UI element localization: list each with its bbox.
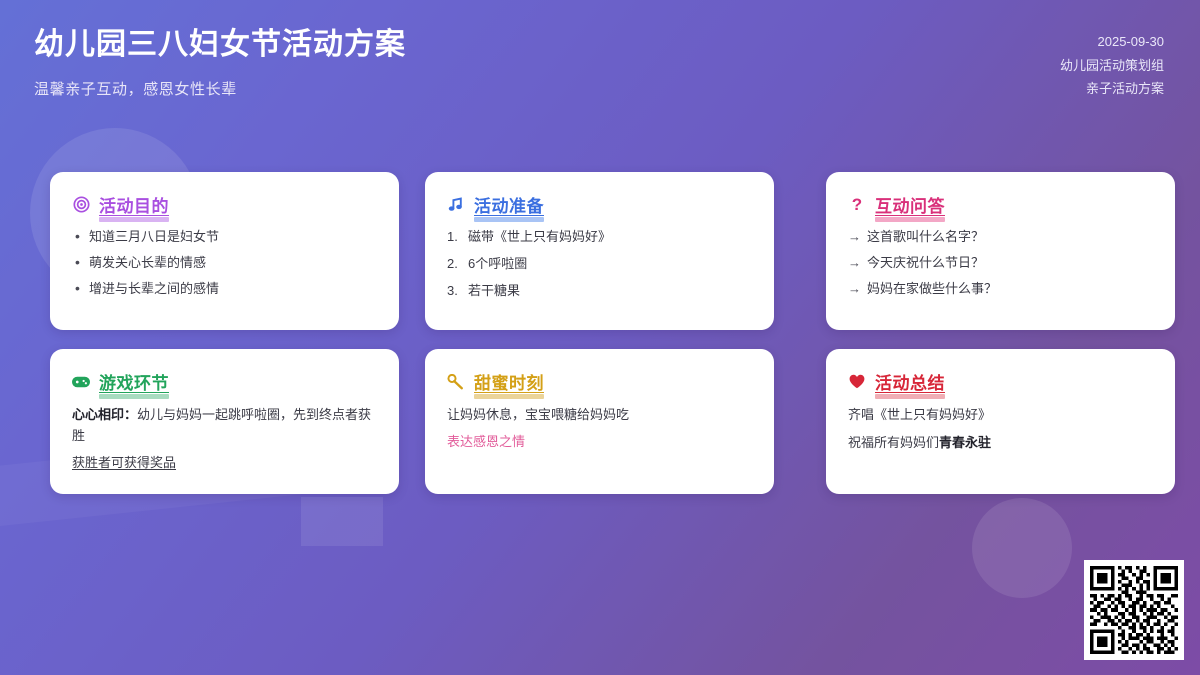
card-interactive-qa[interactable]: ?互动问答这首歌叫什么名字？今天庆祝什么节日？妈妈在家做些什么事？	[826, 172, 1175, 330]
card-grid: 活动目的知道三月八日是妇女节萌发关心长辈的情感增进与长辈之间的感情活动准备磁带《…	[50, 172, 1150, 494]
card-note-wrap: 获胜者可获得奖品	[72, 453, 377, 474]
decorative-rectangle	[301, 497, 383, 546]
candy-icon	[447, 374, 465, 390]
header-category: 亲子活动方案	[1060, 79, 1164, 99]
card-game-session[interactable]: 游戏环节心心相印：幼儿与妈妈一起跳呼啦圈，先到终点者获胜获胜者可获得奖品	[50, 349, 399, 494]
card-body: 心心相印：幼儿与妈妈一起跳呼啦圈，先到终点者获胜获胜者可获得奖品	[72, 404, 377, 474]
target-icon	[73, 196, 90, 213]
card-title-wrap: 游戏环节	[99, 369, 169, 394]
candy-icon	[447, 373, 465, 391]
paragraph-emphasis: 青春永驻	[939, 435, 991, 450]
card-header: 活动总结	[848, 369, 1153, 394]
list-item: 增进与长辈之间的感情	[72, 279, 377, 299]
list-item: 6个呼啦圈	[447, 254, 752, 274]
heart-icon	[848, 373, 866, 391]
card-body: 齐唱《世上只有妈妈好》祝福所有妈妈们青春永驻	[848, 404, 1153, 453]
question-mark-icon: ?	[852, 196, 862, 213]
numbered-list: 磁带《世上只有妈妈好》6个呼啦圈若干糖果	[447, 227, 752, 301]
list-item: 知道三月八日是妇女节	[72, 227, 377, 247]
list-item: 若干糖果	[447, 281, 752, 301]
card-title: 活动总结	[875, 374, 945, 393]
card-sweet-moment[interactable]: 甜蜜时刻让妈妈休息，宝宝喂糖给妈妈吃表达感恩之情	[425, 349, 774, 494]
qr-code[interactable]	[1084, 560, 1184, 660]
heart-icon	[849, 374, 865, 389]
slide-header: 幼儿园三八妇女节活动方案 温馨亲子互动，感恩女性长辈 2025-09-30 幼儿…	[0, 0, 1200, 128]
card-activity-summary[interactable]: 活动总结齐唱《世上只有妈妈好》祝福所有妈妈们青春永驻	[826, 349, 1175, 494]
header-meta: 2025-09-30 幼儿园活动策划组 亲子活动方案	[1060, 26, 1164, 99]
card-title-wrap: 活动目的	[99, 192, 169, 217]
list-item: 妈妈在家做些什么事？	[848, 279, 1153, 300]
card-header: 游戏环节	[72, 369, 377, 394]
header-date: 2025-09-30	[1060, 32, 1164, 52]
list-item: 这首歌叫什么名字？	[848, 227, 1153, 248]
header-org: 幼儿园活动策划组	[1060, 56, 1164, 76]
card-body: 知道三月八日是妇女节萌发关心长辈的情感增进与长辈之间的感情	[72, 227, 377, 299]
question-mark-icon: ?	[848, 196, 866, 214]
paragraph-emphasis: 心心相印：	[72, 407, 137, 422]
gamepad-icon	[72, 373, 90, 391]
card-paragraph: 让妈妈休息，宝宝喂糖给妈妈吃	[447, 404, 752, 425]
music-note-icon	[447, 196, 465, 214]
title-highlight	[99, 394, 169, 399]
card-paragraph: 齐唱《世上只有妈妈好》	[848, 404, 1153, 425]
card-title: 甜蜜时刻	[474, 374, 544, 393]
card-header: 活动目的	[72, 192, 377, 217]
decorative-circle-bottom-right	[972, 498, 1072, 598]
header-left: 幼儿园三八妇女节活动方案 温馨亲子互动，感恩女性长辈	[34, 26, 406, 99]
card-activity-preparation[interactable]: 活动准备磁带《世上只有妈妈好》6个呼啦圈若干糖果	[425, 172, 774, 330]
music-note-icon	[448, 197, 464, 213]
card-header: 甜蜜时刻	[447, 369, 752, 394]
card-title-wrap: 活动总结	[875, 369, 945, 394]
list-item: 今天庆祝什么节日？	[848, 253, 1153, 274]
question-list: 这首歌叫什么名字？今天庆祝什么节日？妈妈在家做些什么事？	[848, 227, 1153, 299]
gamepad-icon	[72, 375, 90, 389]
bullet-list: 知道三月八日是妇女节萌发关心长辈的情感增进与长辈之间的感情	[72, 227, 377, 299]
title-highlight	[875, 217, 945, 222]
title-highlight	[99, 217, 169, 222]
card-note: 获胜者可获得奖品	[72, 453, 176, 474]
page-subtitle: 温馨亲子互动，感恩女性长辈	[34, 78, 406, 99]
card-activity-purpose[interactable]: 活动目的知道三月八日是妇女节萌发关心长辈的情感增进与长辈之间的感情	[50, 172, 399, 330]
card-paragraph: 心心相印：幼儿与妈妈一起跳呼啦圈，先到终点者获胜	[72, 404, 377, 446]
card-title-wrap: 互动问答	[875, 192, 945, 217]
card-title: 游戏环节	[99, 374, 169, 393]
title-highlight	[875, 394, 945, 399]
card-body: 这首歌叫什么名字？今天庆祝什么节日？妈妈在家做些什么事？	[848, 227, 1153, 299]
card-header: 活动准备	[447, 192, 752, 217]
card-title: 活动准备	[474, 197, 544, 216]
title-highlight	[474, 217, 544, 222]
target-icon	[72, 196, 90, 214]
card-title-wrap: 甜蜜时刻	[474, 369, 544, 394]
title-highlight	[474, 394, 544, 399]
page-title: 幼儿园三八妇女节活动方案	[34, 26, 406, 64]
slide-root: 幼儿园三八妇女节活动方案 温馨亲子互动，感恩女性长辈 2025-09-30 幼儿…	[0, 0, 1200, 675]
qr-code-image	[1090, 566, 1178, 654]
card-header: ?互动问答	[848, 192, 1153, 217]
card-accent-text: 表达感恩之情	[447, 432, 752, 453]
list-item: 磁带《世上只有妈妈好》	[447, 227, 752, 247]
card-body: 磁带《世上只有妈妈好》6个呼啦圈若干糖果	[447, 227, 752, 301]
list-item: 萌发关心长辈的情感	[72, 253, 377, 273]
card-title-wrap: 活动准备	[474, 192, 544, 217]
card-title: 互动问答	[875, 197, 945, 216]
card-title: 活动目的	[99, 197, 169, 216]
card-body: 让妈妈休息，宝宝喂糖给妈妈吃表达感恩之情	[447, 404, 752, 453]
card-paragraph-secondary: 祝福所有妈妈们青春永驻	[848, 432, 1153, 453]
